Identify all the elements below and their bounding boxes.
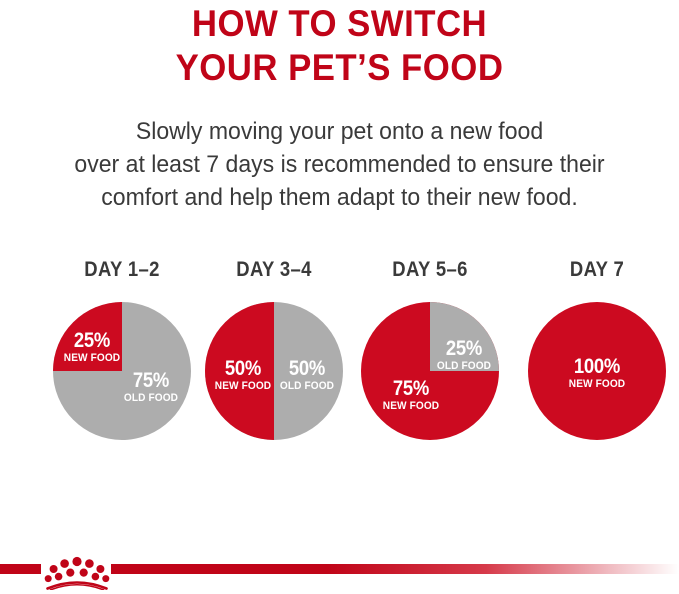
pie-chart-day-1-2: DAY 1–2 25% NEW FOOD 75% OLD FOOD (42, 258, 202, 448)
footer-brand-bar (0, 558, 679, 594)
crown-icon (44, 548, 110, 590)
pie-chart-day-label: DAY 7 (527, 258, 668, 282)
footer-rule-left (0, 564, 41, 574)
pie-chart-day-7: DAY 7 100% NEW FOOD (517, 258, 677, 448)
pie-slice-name: NEW FOOD (378, 401, 444, 412)
crown-icon-svg (44, 548, 110, 590)
pie-chart-row: DAY 1–2 25% NEW FOOD 75% OLD FOOD DAY 3–… (0, 258, 679, 448)
intro-line-2: over at least 7 days is recommended to e… (14, 148, 666, 181)
pie-chart-day-3-4: DAY 3–4 50% NEW FOOD 50% OLD FOOD (194, 258, 354, 448)
pie-slice-percent: 50% (279, 358, 335, 379)
pie-chart-day-label: DAY 1–2 (52, 258, 193, 282)
pie-slice-percent: 25% (65, 330, 120, 351)
pie-slice-name: OLD FOOD (435, 361, 492, 372)
pie-graphic: 100% NEW FOOD (528, 302, 666, 440)
pie-chart-day-5-6: DAY 5–6 75% NEW FOOD 25% OLD FOOD (350, 258, 510, 448)
pie-slice-percent: 100% (562, 356, 632, 377)
pie-slice-percent: 50% (215, 358, 271, 379)
pie-slice-name: OLD FOOD (278, 381, 337, 392)
pie-slice-name: NEW FOOD (560, 379, 634, 390)
footer-rule-right (111, 564, 679, 574)
pie-slice-percent: 75% (379, 378, 442, 399)
page-title-line-1: HOW TO SWITCH (20, 2, 658, 46)
pie-slice-name: OLD FOOD (118, 393, 184, 404)
pie-slice-label-new-food: 100% NEW FOOD (557, 356, 637, 390)
pie-slice-name: NEW FOOD (214, 381, 273, 392)
pie-graphic: 50% NEW FOOD 50% OLD FOOD (205, 302, 343, 440)
intro-line-3: comfort and help them adapt to their new… (14, 181, 666, 214)
pie-graphic: 25% NEW FOOD 75% OLD FOOD (53, 302, 191, 440)
pie-slice-label-new-food: 25% NEW FOOD (61, 330, 123, 364)
pie-slice-percent: 75% (119, 370, 182, 391)
pie-slice-label-old-food: 25% OLD FOOD (433, 338, 495, 372)
pie-slice-name: NEW FOOD (63, 353, 120, 364)
intro-line-1: Slowly moving your pet onto a new food (14, 115, 666, 148)
page-title-line-2: YOUR PET’S FOOD (20, 46, 658, 90)
intro-paragraph: Slowly moving your pet onto a new food o… (14, 115, 666, 214)
pie-slice-label-old-food: 75% OLD FOOD (115, 370, 187, 404)
page-title: HOW TO SWITCH YOUR PET’S FOOD (20, 2, 658, 90)
pie-slice-label-old-food: 50% OLD FOOD (275, 358, 339, 392)
pie-chart-day-label: DAY 5–6 (360, 258, 501, 282)
pie-graphic: 75% NEW FOOD 25% OLD FOOD (361, 302, 499, 440)
pie-slice-label-new-food: 75% NEW FOOD (375, 378, 447, 412)
pie-slice-percent: 25% (437, 338, 492, 359)
pie-slice-label-new-food: 50% NEW FOOD (211, 358, 275, 392)
pie-chart-day-label: DAY 3–4 (204, 258, 345, 282)
